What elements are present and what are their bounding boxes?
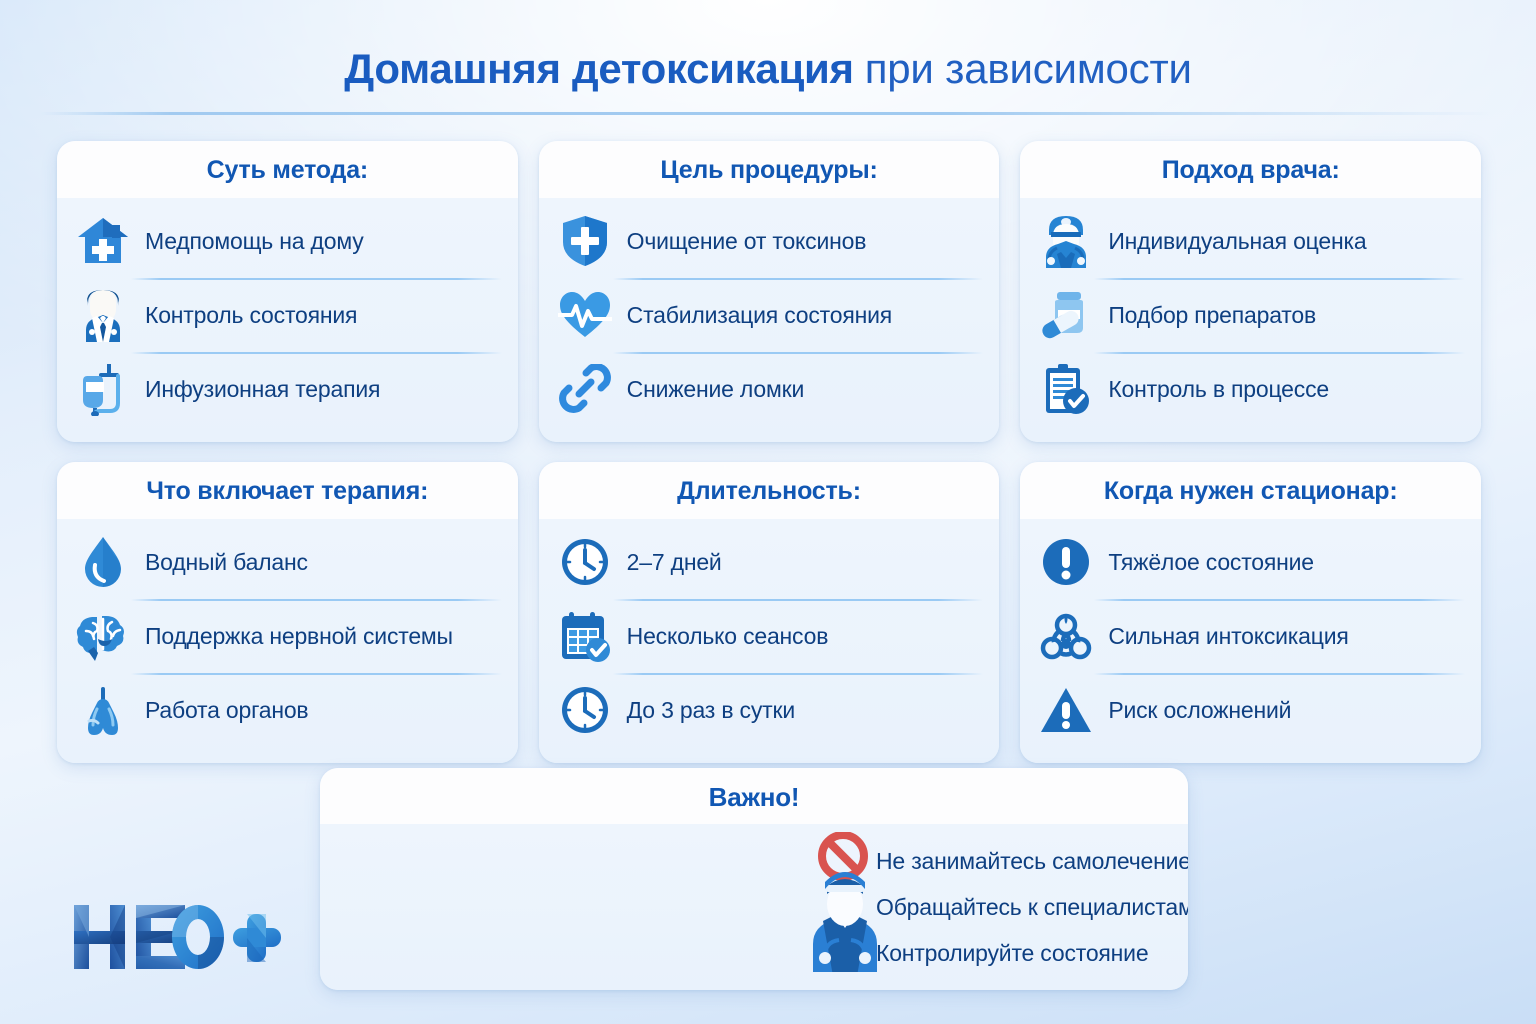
important-card-title: Важно! — [320, 768, 1188, 824]
card-title: Цель процедуры: — [539, 141, 1000, 198]
list-item: Риск осложнений — [1038, 673, 1459, 747]
card-item-list: Медпомощь на домуКонтроль состоянияИнфуз… — [57, 198, 518, 442]
list-item: Инфузионная терапия — [75, 352, 496, 426]
logo-letter-n — [74, 905, 125, 969]
list-item-label: Работа органов — [145, 697, 308, 723]
card-title: Длительность: — [539, 462, 1000, 519]
water-drop-icon — [75, 533, 131, 591]
page-title-strong: Домашняя детоксикация — [344, 45, 853, 93]
important-lines: Не занимайтесь самолечениемОбращайтесь к… — [876, 838, 1188, 976]
biohazard-icon — [1038, 607, 1094, 665]
list-item: Контроль состояния — [75, 278, 496, 352]
list-item: Контроль в процессе — [1038, 352, 1459, 426]
clock-icon — [557, 681, 613, 739]
list-item: 2–7 дней — [557, 525, 978, 599]
important-line: Контролируйте состояние — [876, 930, 1188, 976]
list-item-label: До 3 раз в сутки — [627, 697, 795, 723]
info-card: Подход врача:Индивидуальная оценкаПодбор… — [1020, 141, 1481, 442]
shield-cross-icon — [557, 212, 613, 270]
info-card: Суть метода:Медпомощь на домуКонтроль со… — [57, 141, 518, 442]
warning-triangle-icon — [1038, 681, 1094, 739]
card-item-list: 2–7 днейНесколько сеансовДо 3 раз в сутк… — [539, 519, 1000, 763]
list-item-label: Сильная интоксикация — [1108, 623, 1348, 649]
list-item-label: Поддержка нервной системы — [145, 623, 453, 649]
list-item: Работа органов — [75, 673, 496, 747]
important-card-body: Не занимайтесь самолечениемОбращайтесь к… — [320, 824, 1188, 990]
list-item: Снижение ломки — [557, 352, 978, 426]
list-item: Подбор препаратов — [1038, 278, 1459, 352]
card-title: Когда нужен стационар: — [1020, 462, 1481, 519]
pills-bottle-icon — [1038, 286, 1094, 344]
list-item-label: Стабилизация состояния — [627, 302, 892, 328]
list-item-label: Подбор препаратов — [1108, 302, 1316, 328]
card-item-list: Индивидуальная оценкаПодбор препаратовКо… — [1020, 198, 1481, 442]
list-item-label: Снижение ломки — [627, 376, 804, 402]
doctor-person-icon — [75, 286, 131, 344]
important-line: Обращайтесь к специалистам — [876, 884, 1188, 930]
logo-letter-o — [172, 905, 224, 969]
list-item: Очищение от токсинов — [557, 204, 978, 278]
doctor-figure-icon — [813, 872, 877, 972]
info-card: Цель процедуры:Очищение от токсиновСтаби… — [539, 141, 1000, 442]
info-card: Что включает терапия:Водный балансПоддер… — [57, 462, 518, 763]
calendar-check-icon — [557, 607, 613, 665]
iv-drip-icon — [75, 360, 131, 418]
exclamation-circle-icon — [1038, 533, 1094, 591]
info-card: Когда нужен стационар:Тяжёлое состояниеС… — [1020, 462, 1481, 763]
list-item-label: Несколько сеансов — [627, 623, 829, 649]
clock-icon — [557, 533, 613, 591]
title-divider — [40, 112, 1495, 115]
info-card: Длительность:2–7 днейНесколько сеансовДо… — [539, 462, 1000, 763]
list-item-label: 2–7 дней — [627, 549, 722, 575]
list-item-label: Контроль состояния — [145, 302, 357, 328]
list-item-label: Медпомощь на дому — [145, 228, 364, 254]
list-item-label: Очищение от токсинов — [627, 228, 867, 254]
logo-plus — [233, 914, 281, 962]
card-item-list: Очищение от токсиновСтабилизация состоян… — [539, 198, 1000, 442]
card-title: Что включает терапия: — [57, 462, 518, 519]
list-item-label: Контроль в процессе — [1108, 376, 1329, 402]
list-item: Медпомощь на дому — [75, 204, 496, 278]
heart-pulse-icon — [557, 286, 613, 344]
card-title: Подход врача: — [1020, 141, 1481, 198]
page-title-light: при зависимости — [865, 45, 1192, 93]
chain-link-icon — [557, 360, 613, 418]
prohibition-sign-icon — [822, 835, 864, 877]
list-item: Несколько сеансов — [557, 599, 978, 673]
important-line: Не занимайтесь самолечением — [876, 838, 1188, 884]
card-grid: Суть метода:Медпомощь на домуКонтроль со… — [57, 141, 1481, 763]
list-item: Водный баланс — [75, 525, 496, 599]
list-item: Индивидуальная оценка — [1038, 204, 1459, 278]
list-item: Поддержка нервной системы — [75, 599, 496, 673]
lungs-icon — [75, 681, 131, 739]
important-card: Важно! — [320, 768, 1188, 990]
list-item-label: Инфузионная терапия — [145, 376, 380, 402]
card-title: Суть метода: — [57, 141, 518, 198]
list-item: Стабилизация состояния — [557, 278, 978, 352]
card-item-list: Тяжёлое состояниеСильная интоксикацияРис… — [1020, 519, 1481, 763]
brain-icon — [75, 607, 131, 665]
page-title: Домашняя детоксикация при зависимости — [0, 34, 1536, 104]
card-item-list: Водный балансПоддержка нервной системыРа… — [57, 519, 518, 763]
doctor-stethoscope-icon — [1038, 212, 1094, 270]
house-medical-icon — [75, 212, 131, 270]
list-item: Сильная интоксикация — [1038, 599, 1459, 673]
list-item: До 3 раз в сутки — [557, 673, 978, 747]
list-item-label: Индивидуальная оценка — [1108, 228, 1366, 254]
list-item: Тяжёлое состояние — [1038, 525, 1459, 599]
list-item-label: Тяжёлое состояние — [1108, 549, 1314, 575]
clipboard-check-icon — [1038, 360, 1094, 418]
list-item-label: Водный баланс — [145, 549, 308, 575]
list-item-label: Риск осложнений — [1108, 697, 1291, 723]
neo-plus-logo — [70, 897, 285, 983]
